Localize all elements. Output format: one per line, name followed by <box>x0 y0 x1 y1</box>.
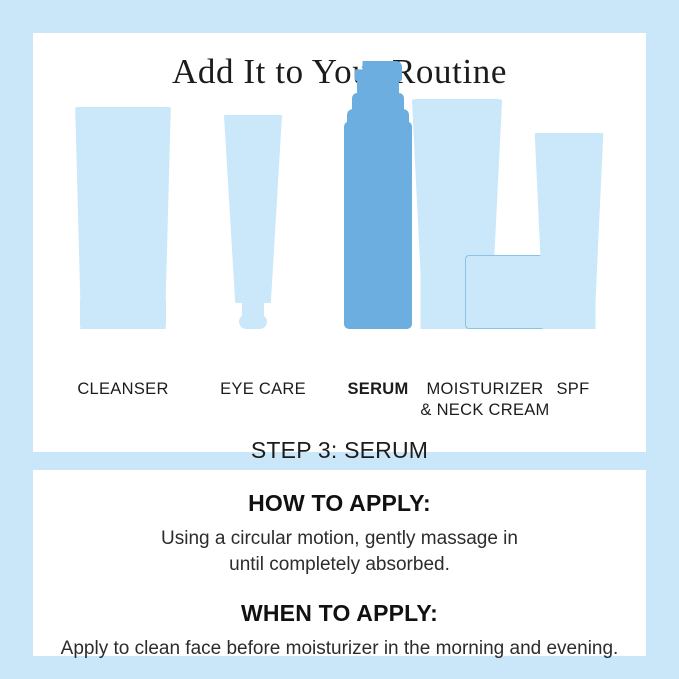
tube-medium-icon <box>530 133 608 329</box>
product-label-moisturizer-line2: & NECK CREAM <box>405 400 565 421</box>
apply-content: HOW TO APPLY: Using a circular motion, g… <box>33 470 646 662</box>
product-label-cleanser: CLEANSER <box>43 379 203 400</box>
product-label-spf: SPF <box>533 379 613 400</box>
routine-panel: Add It to Your Routine <box>33 33 646 452</box>
how-to-apply-line1: Using a circular motion, gently massage … <box>33 526 646 552</box>
tube-slim-icon <box>220 115 286 303</box>
how-to-apply-line2: until completely absorbed. <box>33 552 646 578</box>
apply-panel: HOW TO APPLY: Using a circular motion, g… <box>33 470 646 656</box>
infographic-page: Add It to Your Routine <box>0 0 679 679</box>
when-to-apply-body: Apply to clean face before moisturizer i… <box>33 636 646 662</box>
pump-head-icon <box>355 61 402 81</box>
when-to-apply-heading: WHEN TO APPLY: <box>33 600 646 627</box>
step-indicator: STEP 3: SERUM <box>33 437 646 464</box>
product-spf[interactable] <box>526 133 612 329</box>
product-eye-care[interactable] <box>214 115 292 329</box>
when-to-apply-line1: Apply to clean face before moisturizer i… <box>33 636 646 662</box>
how-to-apply-heading: HOW TO APPLY: <box>33 490 646 517</box>
product-label-eye-care: EYE CARE <box>188 379 338 400</box>
how-to-apply-body: Using a circular motion, gently massage … <box>33 526 646 578</box>
product-labels: CLEANSER EYE CARE SERUM MOISTURIZER & NE… <box>33 379 646 435</box>
tube-tip-icon <box>239 315 267 329</box>
pump-bottle-icon <box>344 121 412 329</box>
tube-cap-icon <box>80 299 166 329</box>
product-cleanser[interactable] <box>67 81 179 329</box>
tube-wide-icon <box>71 107 175 329</box>
product-row <box>33 95 646 385</box>
